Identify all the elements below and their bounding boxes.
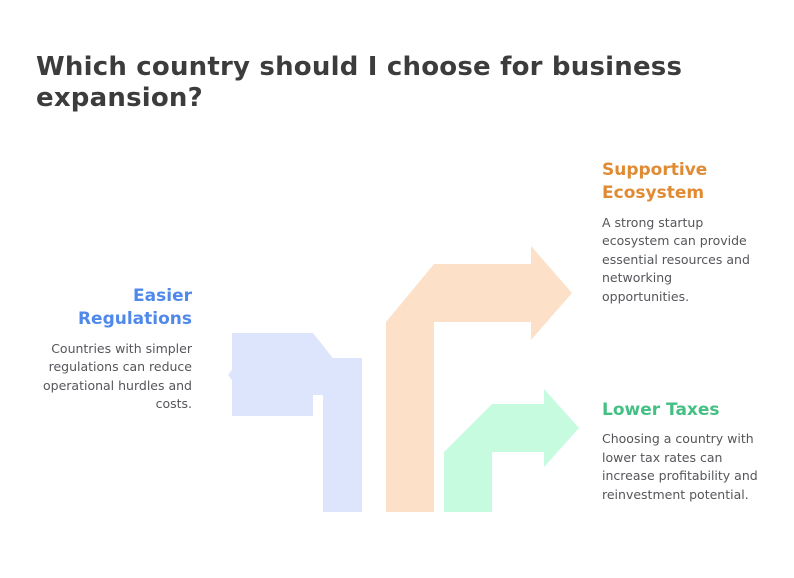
arrow-ecosystem-shape xyxy=(386,322,434,512)
arrow-taxes-shape xyxy=(444,452,492,512)
callout-title-easier-regulations: Easier Regulations xyxy=(22,285,192,332)
infographic-canvas: Which country should I choose for busine… xyxy=(0,0,794,578)
callout-body-supportive-ecosystem: A strong startup ecosystem can provide e… xyxy=(602,214,754,307)
callout-supportive-ecosystem: Supportive Ecosystem A strong startup ec… xyxy=(602,159,754,306)
arrow-taxes xyxy=(444,389,579,512)
callout-body-easier-regulations: Countries with simpler regulations can r… xyxy=(22,340,192,414)
arrow-taxes-bend xyxy=(444,404,492,452)
callout-title-supportive-ecosystem: Supportive Ecosystem xyxy=(602,159,754,206)
arrow-regulations-shape xyxy=(323,395,362,512)
arrow-regulations xyxy=(228,333,362,512)
callout-body-lower-taxes: Choosing a country with lower tax rates … xyxy=(602,430,762,504)
callout-easier-regulations: Easier Regulations Countries with simple… xyxy=(22,285,192,414)
arrow-taxes-arrowhead xyxy=(492,389,579,467)
arrow-ecosystem-arrowhead xyxy=(434,246,572,340)
callout-title-lower-taxes: Lower Taxes xyxy=(602,399,762,422)
callout-lower-taxes: Lower Taxes Choosing a country with lowe… xyxy=(602,399,762,504)
arrow-ecosystem-bend xyxy=(386,264,434,322)
